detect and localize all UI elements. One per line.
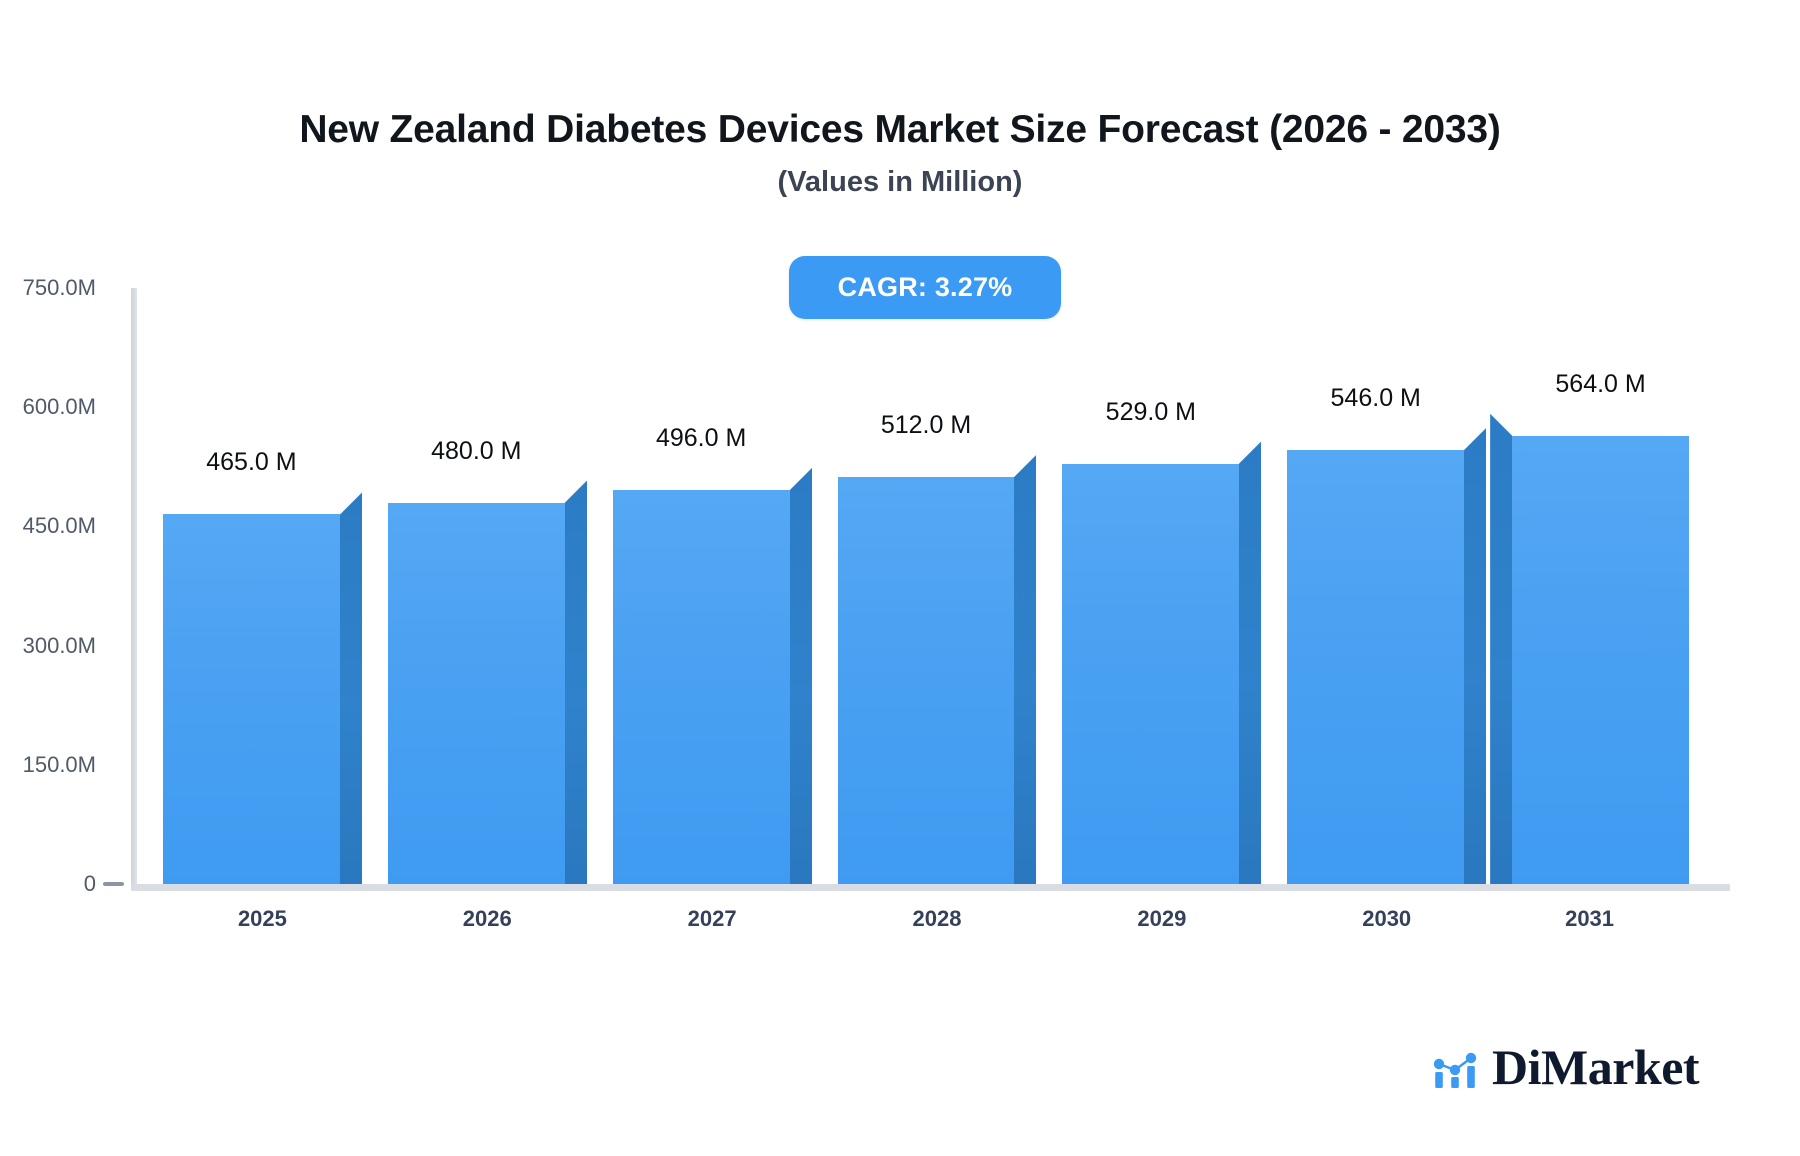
- bar-side-face: [790, 468, 812, 884]
- dimarket-logo-text: DiMarket: [1492, 1042, 1699, 1092]
- bar-front-face: [163, 514, 340, 884]
- bar-2031[interactable]: [1512, 414, 1689, 884]
- y-axis-tick-300: 300.0M: [0, 633, 96, 659]
- bar-side-face: [1239, 442, 1261, 884]
- plot-area: 0150.0M300.0M450.0M600.0M750.0M 20252026…: [0, 0, 1800, 1156]
- bar-value-label-2026: 480.0 M: [431, 437, 521, 466]
- bar-side-face: [1014, 455, 1036, 884]
- bar-value-label-2025: 465.0 M: [206, 448, 296, 477]
- bar-2029[interactable]: [1062, 442, 1239, 884]
- bar-value-label-2027: 496.0 M: [656, 424, 746, 453]
- bar-value-label-2031: 564.0 M: [1555, 370, 1645, 399]
- bar-side-face: [1490, 414, 1512, 884]
- x-axis-tick-2028: 2028: [913, 906, 962, 932]
- bar-front-face: [838, 477, 1015, 884]
- bar-value-label-2030: 546.0 M: [1331, 384, 1421, 413]
- y-axis-tick-750: 750.0M: [0, 275, 96, 301]
- y-axis-tick-150: 150.0M: [0, 752, 96, 778]
- bar-2026[interactable]: [388, 481, 565, 884]
- bar-2030[interactable]: [1287, 428, 1464, 884]
- bar-2027[interactable]: [613, 468, 790, 884]
- bar-chart-icon: [1432, 1044, 1478, 1090]
- y-axis-tick-600: 600.0M: [0, 394, 96, 420]
- bar-side-face: [340, 492, 362, 884]
- bar-front-face: [613, 490, 790, 884]
- y-axis-tick-0: 0: [0, 871, 96, 897]
- bar-2028[interactable]: [838, 455, 1015, 884]
- dimarket-logo: DiMarket: [1432, 1042, 1699, 1092]
- x-axis-tick-2031: 2031: [1565, 906, 1614, 932]
- bar-side-face: [1464, 428, 1486, 884]
- bar-side-face: [565, 481, 587, 884]
- bar-front-face: [1062, 464, 1239, 884]
- x-axis-line: [131, 884, 1730, 891]
- bar-value-label-2029: 529.0 M: [1106, 398, 1196, 427]
- bar-front-face: [1287, 450, 1464, 884]
- x-axis-tick-2025: 2025: [238, 906, 287, 932]
- y-axis-line: [131, 288, 137, 885]
- x-axis-tick-2029: 2029: [1137, 906, 1186, 932]
- x-axis-tick-2026: 2026: [463, 906, 512, 932]
- bar-2025[interactable]: [163, 492, 340, 884]
- bar-front-face: [1512, 436, 1689, 884]
- chart-canvas: New Zealand Diabetes Devices Market Size…: [0, 0, 1800, 1156]
- bar-value-label-2028: 512.0 M: [881, 411, 971, 440]
- y-axis-zero-tick: [103, 882, 124, 886]
- bar-front-face: [388, 503, 565, 884]
- x-axis-tick-2030: 2030: [1362, 906, 1411, 932]
- x-axis-tick-2027: 2027: [688, 906, 737, 932]
- y-axis-tick-450: 450.0M: [0, 513, 96, 539]
